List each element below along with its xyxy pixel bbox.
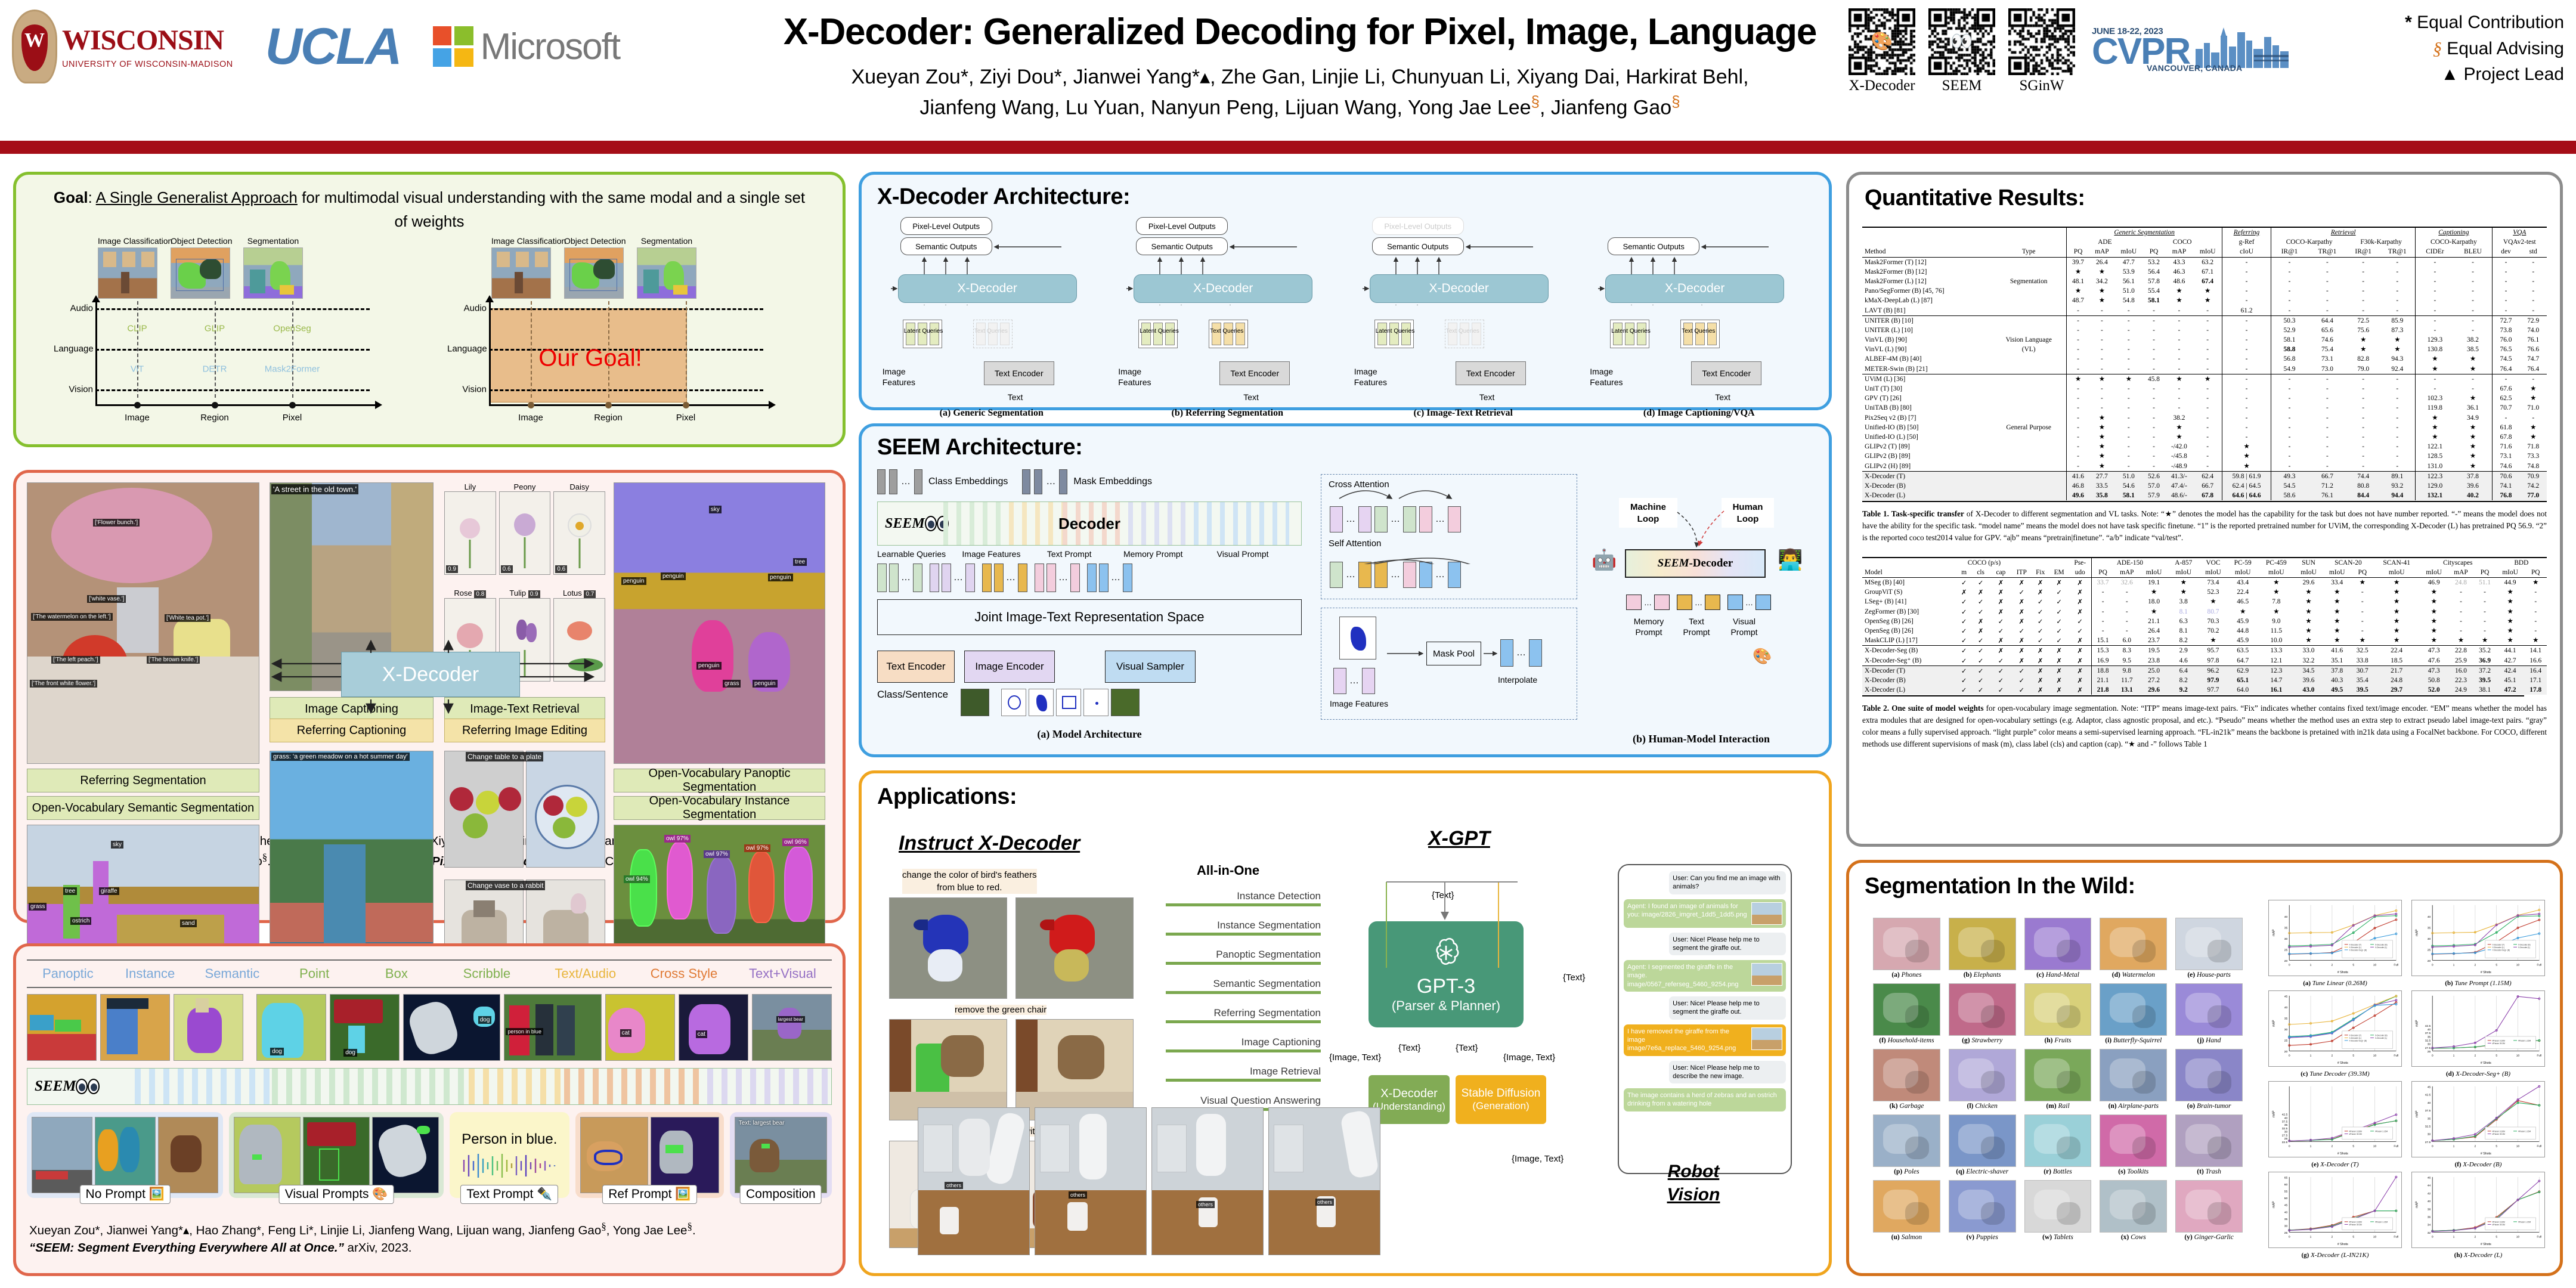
xdecoder-block: X-Decoder: [898, 274, 1077, 303]
svg-text:10: 10: [2516, 1054, 2520, 1057]
sitw-image: [2024, 1049, 2092, 1101]
col-panoptic: Panoptic: [27, 966, 109, 982]
caption-overlay: 'A street in the old town.': [271, 484, 358, 494]
sitw-caption: (v) Puppies: [1949, 1234, 2016, 1241]
xdecoder-block: X-Decoder: [1370, 274, 1549, 303]
svg-text:35: 35: [2284, 926, 2288, 930]
svg-text:5: 5: [2495, 1235, 2497, 1239]
score: 0.8: [474, 590, 486, 598]
svg-text:1: 1: [2310, 1144, 2312, 1148]
retrieval-label: Lily: [444, 482, 496, 491]
sitw-image: [2175, 1180, 2243, 1233]
seem-prompt-type-header: Panoptic Instance Semantic Point Box Scr…: [27, 959, 832, 988]
svg-text:2: 2: [2332, 963, 2333, 967]
xdecoder-arch-columns: Pixel-Level Outputs Semantic Outputs X-D…: [862, 210, 1829, 405]
sitw-plot-caption: (g) X-Decoder (L-IN21K): [2267, 1252, 2404, 1259]
sitw-image: [1873, 983, 1940, 1036]
table-2-caption: Table 2. One suite of model weights for …: [1862, 702, 2547, 750]
prompt-label-visual-prompts: Visual Prompts 🎨: [279, 1185, 394, 1204]
applications-title: Applications:: [877, 784, 1829, 810]
model-label-glip: GLIP: [205, 323, 225, 333]
edge-label-text: {Text}: [1563, 973, 1586, 983]
svg-text:2: 2: [2332, 1235, 2333, 1239]
svg-text:20: 20: [2284, 1050, 2288, 1054]
sitw-item: (j) Hand: [2175, 983, 2243, 1044]
seem-decoder-bar: SEEM Decoder: [877, 501, 1302, 546]
tag-image-captioning: Image Captioning: [270, 697, 434, 721]
sitw-plot-grid: 2025303540012510Full# ShotsmAPX-Decoder …: [2267, 900, 2547, 1259]
sitw-item: (q) Electric-shaver: [1949, 1114, 2016, 1175]
mask-label: ['White tea pot.']: [165, 614, 210, 622]
image-features-label: ImageFeatures: [1118, 366, 1153, 388]
palette-icon: 🎨: [1753, 647, 1772, 665]
svg-text:mAP: mAP: [2272, 1110, 2276, 1117]
uw-madison-logo: WISCONSIN UNIVERSITY OF WISCONSIN-MADISO…: [12, 10, 233, 83]
svg-text:#Param 0.26M: #Param 0.26M: [2493, 1130, 2506, 1132]
svg-text:# Shots: # Shots: [2337, 1152, 2348, 1156]
all-in-one-title: All-in-One: [1197, 863, 1259, 878]
xdecoder-demo-grid: ['Flower bunch.'] ['white vase.'] ['Whit…: [16, 473, 843, 829]
sitw-image-grid: (a) Phones(b) Elephants(c) Hand-Metal(d)…: [1873, 918, 2243, 1241]
sitw-caption: (p) Poles: [1873, 1168, 1940, 1175]
instruction-1: change the color of bird's feathersfrom …: [902, 869, 1037, 894]
token-group-labels: Learnable Queries Image Features Text Pr…: [877, 549, 1302, 559]
legend-equal-contribution: * Equal Contribution: [2278, 10, 2564, 36]
latent-queries-label: Latent Queries: [904, 328, 943, 335]
seem-citation: Xueyan Zou*, Jianwei Yang*▴, Hao Zhang*,…: [16, 1216, 843, 1256]
sitw-item: (f) Household-items: [1873, 983, 1940, 1044]
sitw-item: (w) Tablets: [2024, 1180, 2092, 1241]
thumb-panoptic: [27, 994, 97, 1061]
image-features-label: ImageFeatures: [883, 366, 917, 388]
svg-text:1: 1: [2453, 1054, 2455, 1057]
goal-thumb-classification-2: Image Classification: [491, 236, 551, 299]
pixel-level-outputs-block: Pixel-Level Outputs: [900, 217, 992, 235]
embedding-legend: … Class Embeddings … Mask Embeddings: [877, 469, 1302, 494]
sitw-image: [2100, 1049, 2167, 1101]
prompt-label-text-prompt-visible: Text Prompt ✒️: [460, 1185, 558, 1204]
qr-label: SEEM: [1928, 78, 1995, 94]
qr-code-sginw[interactable]: [2008, 8, 2075, 75]
svg-text:1: 1: [2453, 963, 2455, 967]
sitw-caption: (g) Strawberry: [1949, 1037, 2016, 1044]
mask-label: penguin: [753, 680, 778, 688]
attention-detail-box: Cross Attention … … … Self Attention … ……: [1321, 474, 1577, 599]
thumb-text-audio: person in blue: [504, 994, 601, 1061]
ref-caption-overlay: grass: 'a green meadow on a hot summer d…: [271, 753, 410, 761]
svg-text:#Param 0.26M: #Param 0.26M: [2493, 1039, 2506, 1042]
mask-label: cat: [696, 1030, 707, 1038]
mask-label: grass: [29, 903, 47, 911]
task-semantic-segmentation: Semantic Segmentation: [1166, 978, 1321, 994]
sitw-item: (p) Poles: [1873, 1114, 1940, 1175]
svg-text:5: 5: [2352, 1235, 2354, 1239]
y-tick-vision: Vision: [54, 384, 93, 394]
encoder-row: Text Encoder Image Encoder Visual Sample…: [877, 651, 1302, 683]
goal-axes-right: Audio Language Vision Image Region Pixel…: [447, 301, 805, 414]
col-scribble: Scribble: [438, 966, 536, 982]
sitw-caption: (x) Cows: [2100, 1234, 2167, 1241]
label-image-features: Image Features: [962, 549, 1046, 559]
svg-text:36: 36: [2428, 1216, 2431, 1219]
dino-detection-photo-2: [564, 247, 624, 299]
edge-label-image-text: {Image, Text}: [1329, 1052, 1381, 1063]
sitw-item: (r) Bottles: [2024, 1114, 2092, 1175]
instance-label: owl 96%: [782, 838, 809, 846]
qr-code-xdecoder[interactable]: 🎨: [1849, 8, 1915, 75]
sitw-item: (v) Puppies: [1949, 1180, 2016, 1241]
gpt3-block: GPT-3 (Parser & Planner): [1368, 921, 1524, 1027]
svg-text:22.5: 22.5: [2282, 1141, 2288, 1144]
sitw-caption: (b) Elephants: [1949, 971, 2016, 979]
sitw-image: [1949, 918, 2016, 970]
svg-text:25: 25: [2428, 1050, 2431, 1054]
svg-text:42.5: 42.5: [2282, 1113, 2288, 1117]
mask-embeddings-label: Mask Embeddings: [1073, 476, 1152, 487]
score: 0.6: [501, 565, 513, 573]
x-tick-pixel: Pixel: [283, 413, 302, 423]
svg-text:# Shots: # Shots: [2337, 1243, 2348, 1246]
svg-text:37.5: 37.5: [2425, 1032, 2431, 1035]
seem-decoder-block: SEEM-Decoder: [1625, 549, 1766, 578]
svg-text:32.5: 32.5: [2425, 1125, 2431, 1129]
svg-text:X-Decoder (L): X-Decoder (L): [2375, 1037, 2387, 1039]
svg-text:Full: Full: [2394, 963, 2398, 967]
sitw-plot-caption: (e) X-Decoder (T): [2267, 1161, 2404, 1168]
svg-text:0: 0: [2432, 1235, 2433, 1239]
svg-text:37.5: 37.5: [2425, 1109, 2431, 1113]
pixel-level-outputs-block-disabled: Pixel-Level Outputs: [1372, 217, 1464, 235]
sitw-image: [1949, 1049, 2016, 1101]
prompt-group-composition: Text: largest bear Composition: [730, 1112, 832, 1198]
sitw-caption: (e) House-parts: [2175, 971, 2243, 979]
robot-frame-4: others: [1268, 1107, 1380, 1255]
svg-text:2: 2: [2475, 1144, 2476, 1148]
segmentation-in-the-wild-panel: Segmentation In the Wild: (a) Phones(b) …: [1846, 860, 2563, 1276]
svg-text:X-Decoder (B): X-Decoder (B): [2375, 1034, 2388, 1036]
svg-text:#Param 0.26M: #Param 0.26M: [2349, 1130, 2363, 1132]
label-learnable-queries: Learnable Queries: [877, 549, 962, 559]
xdecoder-understanding-block: X-Decoder(Understanding): [1368, 1075, 1450, 1124]
mask-label: ostrich: [70, 917, 91, 925]
svg-text:27.5: 27.5: [2425, 1046, 2431, 1050]
chat-bubble-agent: The image contains a herd of zebras and …: [1624, 1088, 1786, 1111]
mask-label: person in blue: [506, 1028, 543, 1035]
svg-text:10: 10: [2516, 963, 2520, 967]
qr-item-xdecoder[interactable]: 🎨 X-Decoder: [1849, 8, 1915, 94]
dino-photo-2: [491, 247, 551, 299]
open-vocab-panoptic-seg-image: sky tree penguin penguin grass penguin p…: [614, 482, 825, 764]
svg-text:1: 1: [2310, 963, 2312, 967]
seem-wordmark: SEEM: [885, 516, 925, 532]
class-sentence-label: Class/Sentence: [877, 689, 955, 701]
text-encoder-block: Text Encoder: [877, 651, 955, 683]
y-tick-language: Language: [54, 343, 93, 354]
qr-code-seem[interactable]: 👀: [1928, 8, 1995, 75]
author-list: Xueyan Zou*, Ziyi Dou*, Jianwei Yang*▴, …: [757, 64, 1843, 122]
sitw-item: (x) Cows: [2100, 1180, 2167, 1241]
text-queries-label: Text Queries: [974, 328, 1008, 335]
text-encoder-block: Text Encoder: [984, 361, 1054, 385]
subcaption-d: (d) Image Captioning/VQA: [1590, 408, 1808, 419]
robot-overlay-label: others: [1069, 1191, 1087, 1199]
latent-queries-label: Latent Queries: [1376, 328, 1415, 335]
y-tick-language: Language: [447, 343, 487, 354]
sitw-caption: (s) Toolkits: [2100, 1168, 2167, 1175]
mask-label: dog: [270, 1048, 284, 1055]
svg-text:45: 45: [2284, 1204, 2288, 1207]
eyes-icon: 👀: [1950, 33, 1973, 51]
sitw-plot: 2025303540012510Full# ShotsmAPX-Decoder …: [2410, 900, 2547, 987]
legend-project-lead: ▲ Project Lead: [2278, 61, 2564, 88]
text-prompt-label: TextPrompt: [1673, 616, 1720, 637]
goal-thumb-detection-2: Object Detection: [564, 236, 624, 299]
svg-text:X-Decoder (L): X-Decoder (L): [2518, 946, 2530, 949]
sitw-caption: (q) Electric-shaver: [1949, 1168, 2016, 1175]
robot-vision-row: others others others others: [918, 1107, 1380, 1255]
svg-text:30: 30: [2428, 1043, 2431, 1046]
poster-header: WISCONSIN UNIVERSITY OF WISCONSIN-MADISO…: [0, 0, 2576, 141]
mask-label: largest bear: [776, 1016, 805, 1023]
sitw-caption: (w) Tablets: [2024, 1234, 2092, 1241]
svg-text:35: 35: [2284, 1017, 2288, 1020]
table-1-caption: Table 1. Task-specific transfer of X-Dec…: [1862, 508, 2547, 543]
mask-label: ['Flower bunch.']: [93, 519, 140, 527]
instance-label: owl 97%: [704, 850, 730, 858]
sitw-item: (a) Phones: [1873, 918, 1940, 979]
table-2: ModelCOCO (p/s)ITPFixEMPse-udoADE-150A-8…: [1862, 557, 2547, 697]
svg-text:# Shots: # Shots: [2481, 1061, 2491, 1065]
svg-text:2: 2: [2332, 1054, 2333, 1057]
svg-text:40: 40: [2284, 1006, 2288, 1010]
legend-equal-advising: § Equal Advising: [2278, 36, 2564, 62]
svg-text:35: 35: [2428, 1035, 2431, 1039]
sitw-plot-caption: (b) Tune Prompt (1.15M): [2410, 980, 2547, 987]
model-label-detr: DETR: [203, 364, 227, 374]
svg-text:#Param 0.26M: #Param 0.26M: [2493, 1221, 2506, 1223]
retrieval-label: Lotus: [563, 589, 582, 597]
sitw-image: [2175, 1114, 2243, 1167]
qr-code-block: 🎨 X-Decoder 👀 SEEM SGinW JUNE 18-22, 202…: [1849, 8, 2293, 94]
svg-text:0: 0: [2289, 1054, 2290, 1057]
edge-label-text: {Text}: [1398, 1043, 1421, 1053]
applications-panel: Applications: Instruct X-Decoder X-GPT A…: [859, 770, 1832, 1276]
model-label-vit: ViT: [131, 364, 144, 374]
svg-text:X-Decoder (T): X-Decoder (T): [2349, 1034, 2362, 1036]
palette-icon: 🎨: [1871, 33, 1893, 51]
authors-line-2: Jianfeng Wang, Lu Yuan, Nanyun Peng, Lij…: [757, 91, 1843, 122]
instance-label: owl 97%: [744, 844, 770, 852]
svg-text:35: 35: [2428, 1117, 2431, 1120]
sitw-caption: (o) Brain-tumor: [2175, 1103, 2243, 1110]
thumb-cross-style-a: cat: [605, 994, 675, 1061]
joint-representation-space: Joint Image-Text Representation Space: [877, 599, 1302, 635]
svg-text:40: 40: [2428, 915, 2431, 919]
task-panoptic-segmentation: Panoptic Segmentation: [1166, 949, 1321, 965]
decoder-label: Decoder: [1058, 515, 1120, 533]
svg-text:30: 30: [2284, 1028, 2288, 1032]
visual-prompt-label: VisualPrompt: [1720, 616, 1768, 637]
svg-text:38: 38: [2428, 1207, 2431, 1211]
sitw-caption: (n) Airplane-parts: [2100, 1103, 2167, 1110]
mask-label: grass: [723, 680, 741, 688]
svg-text:50: 50: [2284, 1197, 2288, 1200]
image-encoder-block: Image Encoder: [964, 651, 1055, 683]
thumb-cross-style-b: cat: [679, 994, 748, 1061]
qr-item-sginw[interactable]: SGinW: [2008, 8, 2075, 94]
dino-detection-photo: [171, 247, 230, 299]
chair-before-image: [889, 1019, 1007, 1120]
robot-vision-label: RobotVision: [1625, 1160, 1762, 1206]
retrieval-label: Rose: [454, 589, 472, 597]
svg-text:0: 0: [2432, 963, 2433, 967]
sitw-plot-caption: (f) X-Decoder (B): [2410, 1161, 2547, 1168]
svg-text:46: 46: [2428, 1176, 2431, 1179]
arch-variant-c: Pixel-Level Outputs Semantic Outputs X-D…: [1354, 216, 1572, 405]
microsoft-logo: Microsoft: [433, 26, 620, 68]
svg-text:Full: Full: [2537, 1235, 2541, 1239]
svg-text:42.5: 42.5: [2425, 1024, 2431, 1028]
task-image-captioning: Image Captioning: [1166, 1036, 1321, 1052]
svg-text:20: 20: [2428, 959, 2431, 963]
robot-overlay-label: others: [1315, 1199, 1334, 1206]
retrieval-label: Peony: [499, 482, 551, 491]
svg-text:# Shots: # Shots: [2337, 971, 2348, 974]
svg-text:#Param 39.3M: #Param 39.3M: [2493, 1133, 2506, 1135]
sitw-image: [2175, 1049, 2243, 1101]
sitw-title: Segmentation In the Wild:: [1865, 874, 2560, 899]
svg-text:40: 40: [2428, 1200, 2431, 1203]
svg-text:25: 25: [2284, 1039, 2288, 1042]
svg-text:65: 65: [2284, 1176, 2288, 1179]
svg-text:1: 1: [2453, 1144, 2455, 1148]
svg-text:45: 45: [2284, 995, 2288, 998]
seem-wordmark: SEEM: [35, 1078, 76, 1095]
mask-label: tree: [793, 558, 807, 566]
task-instance-segmentation: Instance Segmentation: [1166, 919, 1321, 936]
svg-text:mAP: mAP: [2416, 1110, 2419, 1117]
svg-text:#Param 0.26M: #Param 0.26M: [2349, 1221, 2363, 1223]
svg-text:mAP: mAP: [2416, 1020, 2419, 1027]
score: 0.9: [446, 565, 458, 573]
qr-label: SGinW: [2008, 78, 2075, 94]
y-tick-vision: Vision: [447, 384, 487, 394]
semantic-outputs-block: Semantic Outputs: [900, 237, 992, 255]
seem-demo-panel: Panoptic Instance Semantic Point Box Scr…: [13, 943, 846, 1276]
svg-text:2: 2: [2475, 1235, 2476, 1239]
sitw-item: (l) Chicken: [1949, 1049, 2016, 1110]
sitw-caption: (j) Hand: [2175, 1037, 2243, 1044]
sitw-caption: (t) Trash: [2175, 1168, 2243, 1175]
title-block: X-Decoder: Generalized Decoding for Pixe…: [757, 11, 1843, 122]
label-text-prompt: Text Prompt: [1047, 549, 1123, 559]
svg-text:0: 0: [2289, 963, 2290, 967]
human-icon: 👨‍💻: [1778, 548, 1803, 572]
svg-text:30: 30: [2428, 1133, 2431, 1137]
table2-wrap: ModelCOCO (p/s)ITPFixEMPse-udoADE-150A-8…: [1862, 557, 2547, 750]
sitw-image: [2100, 1114, 2167, 1167]
sitw-item: (m) Rail: [2024, 1049, 2092, 1110]
goal-panel: Goal: A Single Generalist Approach for m…: [13, 172, 846, 447]
sitw-item: (h) Fruits: [2024, 983, 2092, 1044]
svg-text:10: 10: [2516, 1144, 2520, 1148]
goal-heading: Goal: A Single Generalist Approach for m…: [16, 175, 843, 234]
table-1: MethodTypeGeneric SegmentationReferringR…: [1862, 227, 2547, 502]
svg-text:X-Decoder (L): X-Decoder (L): [2349, 946, 2361, 949]
svg-text:30: 30: [2284, 1131, 2288, 1134]
sitw-item: (c) Hand-Metal: [2024, 918, 2092, 979]
text-queries-label: Text Queries: [1446, 328, 1479, 335]
svg-text:X-Decoder (B): X-Decoder (B): [2375, 943, 2388, 946]
model-label-clip: CLIP: [127, 323, 147, 333]
text-encoder-block: Text Encoder: [1691, 361, 1761, 385]
col-text-visual: Text+Visual: [733, 966, 832, 982]
svg-text:#Param 1.15M: #Param 1.15M: [2375, 1130, 2388, 1132]
sitw-caption: (y) Ginger-Garlic: [2175, 1234, 2243, 1241]
text-encoder-block: Text Encoder: [1456, 361, 1526, 385]
all-in-one-tasks: Instance Detection Instance Segmentation…: [1166, 890, 1321, 1111]
seem-model-bar: SEEM: [27, 1068, 832, 1105]
svg-text:55: 55: [2284, 1190, 2288, 1194]
retrieval-label: Tulip: [509, 589, 526, 597]
seem-subcaption-b: (b) Human-Model Interaction: [1588, 733, 1815, 745]
x-tick-image: Image: [125, 413, 150, 423]
svg-text:0: 0: [2432, 1054, 2433, 1057]
arch-variant-d: Semantic Outputs X-Decoder Latent Querie…: [1590, 216, 1808, 405]
subcaption-b: (b) Referring Segmentation: [1118, 408, 1336, 419]
mask-label: cat: [620, 1029, 631, 1037]
token-rows: … … … … …: [877, 563, 1302, 592]
score: 0.7: [584, 590, 596, 598]
sitw-item: (i) Butterfly-Squirrel: [2100, 983, 2167, 1044]
mask-label: ['white vase.']: [87, 595, 126, 603]
edge-label-image-text: {Image, Text}: [1512, 1154, 1563, 1164]
qr-item-seem[interactable]: 👀 SEEM: [1928, 8, 1995, 94]
label-memory-prompt: Memory Prompt: [1123, 549, 1217, 559]
prompt-group-text-prompt: Person in blue.: [450, 1112, 569, 1198]
svg-text:10: 10: [2516, 1235, 2520, 1239]
qr-label: X-Decoder: [1849, 78, 1915, 94]
interpolate-label: Interpolate: [1498, 675, 1537, 685]
sitw-plot: 22.52527.53032.53537.54042.5012510Full# …: [2267, 1081, 2404, 1168]
dino-photo: [98, 247, 157, 299]
mask-label: sky: [709, 506, 722, 513]
thumb-point: dog: [256, 994, 326, 1061]
header-divider-bar: [0, 141, 2576, 154]
svg-text:0: 0: [2289, 1235, 2290, 1239]
microsoft-squares-icon: [433, 26, 473, 67]
xgpt-chat-panel: User: Can you find me an image with anim…: [1618, 864, 1792, 1174]
svg-text:Full: Full: [2537, 1054, 2541, 1057]
svg-text:2: 2: [2475, 963, 2476, 967]
svg-text:37.5: 37.5: [2282, 1120, 2288, 1123]
x-tick-region: Region: [200, 413, 229, 423]
svg-text:42: 42: [2428, 1192, 2431, 1196]
quantitative-title: Quantitative Results:: [1865, 185, 2560, 211]
sitw-caption: (a) Phones: [1873, 971, 1940, 979]
goal-thumb-classification: Image Classification: [98, 236, 157, 299]
class-embeddings-label: Class Embeddings: [928, 476, 1008, 487]
mask-label: ['The left peach.']: [51, 656, 100, 664]
svg-text:60: 60: [2284, 1183, 2288, 1187]
prompt-group-visual-prompts: Visual Prompts 🎨: [229, 1112, 443, 1198]
sitw-image: [1949, 1180, 2016, 1233]
eye-icon: [88, 1079, 100, 1094]
chat-bubble-agent: Agent: I segmented the giraffe in the im…: [1624, 960, 1786, 992]
thumb-semantic: [174, 994, 243, 1061]
goal-chart-existing: Image Classification Object Detection: [54, 236, 411, 415]
sitw-image: [2024, 1114, 2092, 1167]
